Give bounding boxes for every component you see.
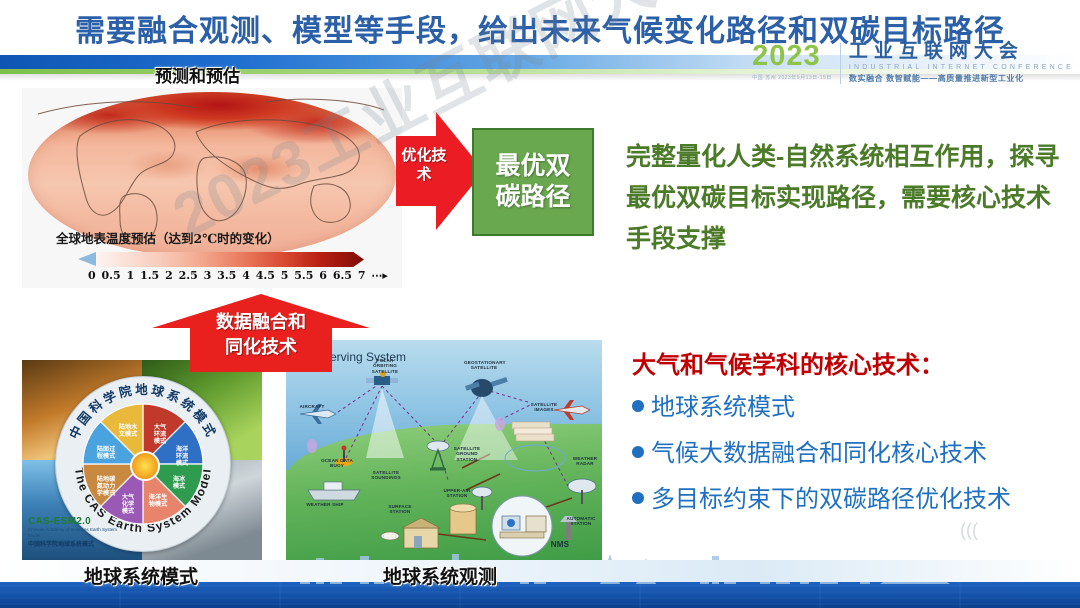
scale-tick: 1.5 bbox=[140, 269, 159, 282]
core-tech-item-label: 多目标约束下的双碳路径优化技术 bbox=[651, 477, 1011, 523]
data-fusion-arrow: 数据融合和 同化技术 bbox=[152, 294, 370, 372]
weather-ship-icon bbox=[308, 482, 360, 500]
list-item: 地球系统模式 bbox=[632, 385, 1072, 431]
esm-segment-wheel: 大气 环流 模式 海洋 环流 模式 海冰 模式 海洋生 物模式 大气 化学 模式… bbox=[78, 399, 208, 529]
scale-tick: 0 bbox=[88, 269, 96, 282]
optimal-carbon-path-label: 最优双 碳路径 bbox=[495, 151, 570, 213]
obs-label-automatic-station: AUTOMATIC STATION bbox=[562, 516, 600, 527]
scale-tick: 6 bbox=[319, 269, 327, 282]
green-summary-paragraph: 完整量化人类-自然系统相互作用，探寻最优双碳目标实现路径，需要核心技术手段支撑 bbox=[626, 137, 1070, 260]
scale-left-arrow-icon bbox=[78, 252, 96, 266]
geostationary-satellite-icon bbox=[465, 377, 508, 397]
global-temperature-map: 全球地表温度预估（达到2℃时的变化） 0 0.5 1 1.5 2 2.5 3 3… bbox=[22, 88, 402, 288]
observing-system-illustration-icon bbox=[286, 340, 602, 562]
obs-label-weather-ship: WEATHER SHIP bbox=[306, 502, 344, 507]
esm-seg-label: 模式 bbox=[173, 482, 186, 490]
bullet-dot-icon bbox=[632, 400, 644, 412]
list-item: 气候大数据融合和同化核心技术 bbox=[632, 431, 1072, 477]
scale-tick: 2.5 bbox=[179, 269, 198, 282]
scale-tick: 4.5 bbox=[256, 269, 275, 282]
esm-seg-label: 大气 bbox=[154, 423, 167, 431]
core-tech-item-label: 地球系统模式 bbox=[651, 385, 795, 431]
global-observing-system-figure: Observing System AIRCRAFT POLAR ORBITING… bbox=[286, 340, 602, 562]
scale-tick: 3 bbox=[204, 269, 212, 282]
obs-label-nms: NMS bbox=[548, 542, 572, 547]
esm-seg-label: 海洋生 bbox=[149, 493, 168, 501]
optimal-carbon-path-box: 最优双 碳路径 bbox=[472, 128, 594, 236]
surface-station-icon bbox=[381, 518, 440, 548]
scale-tick: 2 bbox=[165, 269, 173, 282]
obs-label-surface-station: SURFACE STATION bbox=[382, 504, 418, 515]
obs-label-satellite-soundings: SATELLITE SOUNDINGS bbox=[366, 470, 406, 481]
list-item: 多目标约束下的双碳路径优化技术 bbox=[632, 477, 1072, 523]
optimize-tech-arrow-label: 优化技术 bbox=[398, 146, 450, 184]
esm-seg-label: 海洋 bbox=[176, 445, 189, 453]
esm-seg-label: 学模式 bbox=[97, 489, 116, 497]
scale-tick: 5 bbox=[281, 269, 289, 282]
core-tech-list: 地球系统模式 气候大数据融合和同化核心技术 多目标约束下的双碳路径优化技术 bbox=[632, 385, 1072, 523]
esm-seg-label: 氮动力 bbox=[97, 482, 116, 490]
esm-seg-label: 化学 bbox=[122, 500, 134, 508]
scale-tick: 6.5 bbox=[333, 269, 352, 282]
nms-icon bbox=[492, 496, 552, 556]
fusion-line1: 数据融合和 bbox=[152, 310, 370, 335]
core-tech-item-label: 气候大数据融合和同化核心技术 bbox=[651, 431, 987, 477]
conference-logo: 2023 中国·苏州 2023年9月13日-15日 工业互联网大会 INDUST… bbox=[752, 41, 1074, 84]
esm-version-cn: 中国科学院地球系统模式 bbox=[28, 539, 128, 548]
logo-name-cn: 工业互联网大会 bbox=[849, 41, 1074, 62]
esm-version-en: Chinese Academy of Sciences Earth System… bbox=[28, 527, 128, 539]
green-box-line2: 碳路径 bbox=[495, 182, 570, 213]
scale-tick: 0.5 bbox=[102, 269, 121, 282]
scale-tick-labels: 0 0.5 1 1.5 2 2.5 3 3.5 4 4.5 5 5.5 6 6.… bbox=[88, 269, 388, 282]
obs-label-aircraft: AIRCRAFT bbox=[294, 404, 330, 409]
logo-name-block: 工业互联网大会 INDUSTRIAL INTERNET CONFERENCE 数… bbox=[849, 41, 1074, 84]
scale-tick: 7 bbox=[358, 269, 366, 282]
bottom-label-earth-system-model: 地球系统模式 bbox=[84, 562, 198, 589]
esm-seg-label: 陆地碳 bbox=[97, 475, 116, 483]
bullet-dot-icon bbox=[632, 492, 644, 504]
conference-watermark-small: ((( bbox=[960, 520, 978, 541]
green-box-line1: 最优双 bbox=[495, 151, 570, 182]
esm-seg-label: 环流 bbox=[176, 452, 189, 460]
logo-year-block: 2023 中国·苏州 2023年9月13日-15日 bbox=[752, 41, 832, 81]
logo-year: 2023 bbox=[752, 41, 832, 71]
obs-label-satellite-images: SATELLITE IMAGES bbox=[524, 402, 564, 413]
obs-label-polar-satellite: POLAR ORBITING SATELLITE bbox=[368, 358, 402, 374]
scale-gradient-bar bbox=[96, 252, 364, 267]
esm-seg-label: 程模式 bbox=[97, 452, 116, 460]
scale-tick: 1 bbox=[127, 269, 135, 282]
esm-seg-label: 海冰 bbox=[173, 475, 186, 483]
esm-version-caption: CAS-ESM2.0 Chinese Academy of Sciences E… bbox=[28, 516, 128, 548]
esm-seg-label: 文模式 bbox=[119, 430, 138, 438]
map-section-label: 预测和预估 bbox=[155, 62, 240, 87]
obs-label-geostationary-satellite: GEOSTATIONARY SATELLITE bbox=[464, 360, 504, 371]
bullet-dot-icon bbox=[632, 446, 644, 458]
fusion-line2: 同化技术 bbox=[152, 335, 370, 360]
slide-canvas: 需要融合观测、模型等手段，给出未来气候变化路径和双碳目标路径 2023 中国·苏… bbox=[0, 0, 1080, 608]
weather-radar-icon bbox=[568, 479, 596, 504]
scale-tick: ⋯▸ bbox=[371, 269, 388, 282]
esm-seg-label: 物模式 bbox=[149, 500, 168, 508]
obs-label-weather-radar: WEATHER RADAR bbox=[568, 456, 602, 467]
obs-label-ocean-data-buoy: OCEAN DATA BUOY bbox=[320, 458, 354, 469]
obs-label-upper-air-station: UPPER-AIR STATION bbox=[438, 488, 476, 499]
map-caption: 全球地表温度预估（达到2℃时的变化） bbox=[56, 228, 280, 247]
bottom-label-earth-system-observation: 地球系统观测 bbox=[383, 562, 497, 589]
scale-tick: 4 bbox=[242, 269, 250, 282]
esm-seg-label: 陆地水 bbox=[119, 423, 138, 431]
data-fusion-arrow-label: 数据融合和 同化技术 bbox=[152, 310, 370, 360]
esm-seg-label: 模式 bbox=[122, 507, 135, 515]
cas-earth-system-model-figure: 中国科学院地球系统模式 The CAS Earth System Model bbox=[22, 360, 262, 560]
esm-seg-label: 陆面过 bbox=[97, 445, 116, 453]
core-tech-heading: 大气和气候学科的核心技术： bbox=[632, 345, 944, 380]
scale-tick: 3.5 bbox=[217, 269, 236, 282]
sounding-cone bbox=[366, 388, 404, 458]
temperature-color-scale: 0 0.5 1 1.5 2 2.5 3 3.5 4 4.5 5 5.5 6 6.… bbox=[78, 252, 378, 282]
scale-tick: 5.5 bbox=[294, 269, 313, 282]
logo-tagline: 数实融合 数智赋能——高质量推进新型工业化 bbox=[849, 73, 1074, 84]
esm-seg-label: 环流 bbox=[154, 430, 167, 438]
esm-seg-label: 大气 bbox=[122, 493, 135, 501]
logo-divider bbox=[840, 43, 841, 84]
esm-seg-label: 模式 bbox=[176, 459, 189, 467]
esm-seg-label: 模式 bbox=[154, 437, 167, 445]
logo-name-en: INDUSTRIAL INTERNET CONFERENCE bbox=[849, 64, 1074, 71]
esm-version-title: CAS-ESM2.0 bbox=[28, 516, 128, 527]
optimize-tech-arrow: 优化技术 bbox=[396, 112, 484, 230]
obs-label-satellite-ground-station: SATELLITE GROUND STATION bbox=[446, 446, 488, 462]
logo-year-subtitle: 中国·苏州 2023年9月13日-15日 bbox=[752, 74, 832, 81]
esm-coupler-hub bbox=[130, 451, 160, 481]
